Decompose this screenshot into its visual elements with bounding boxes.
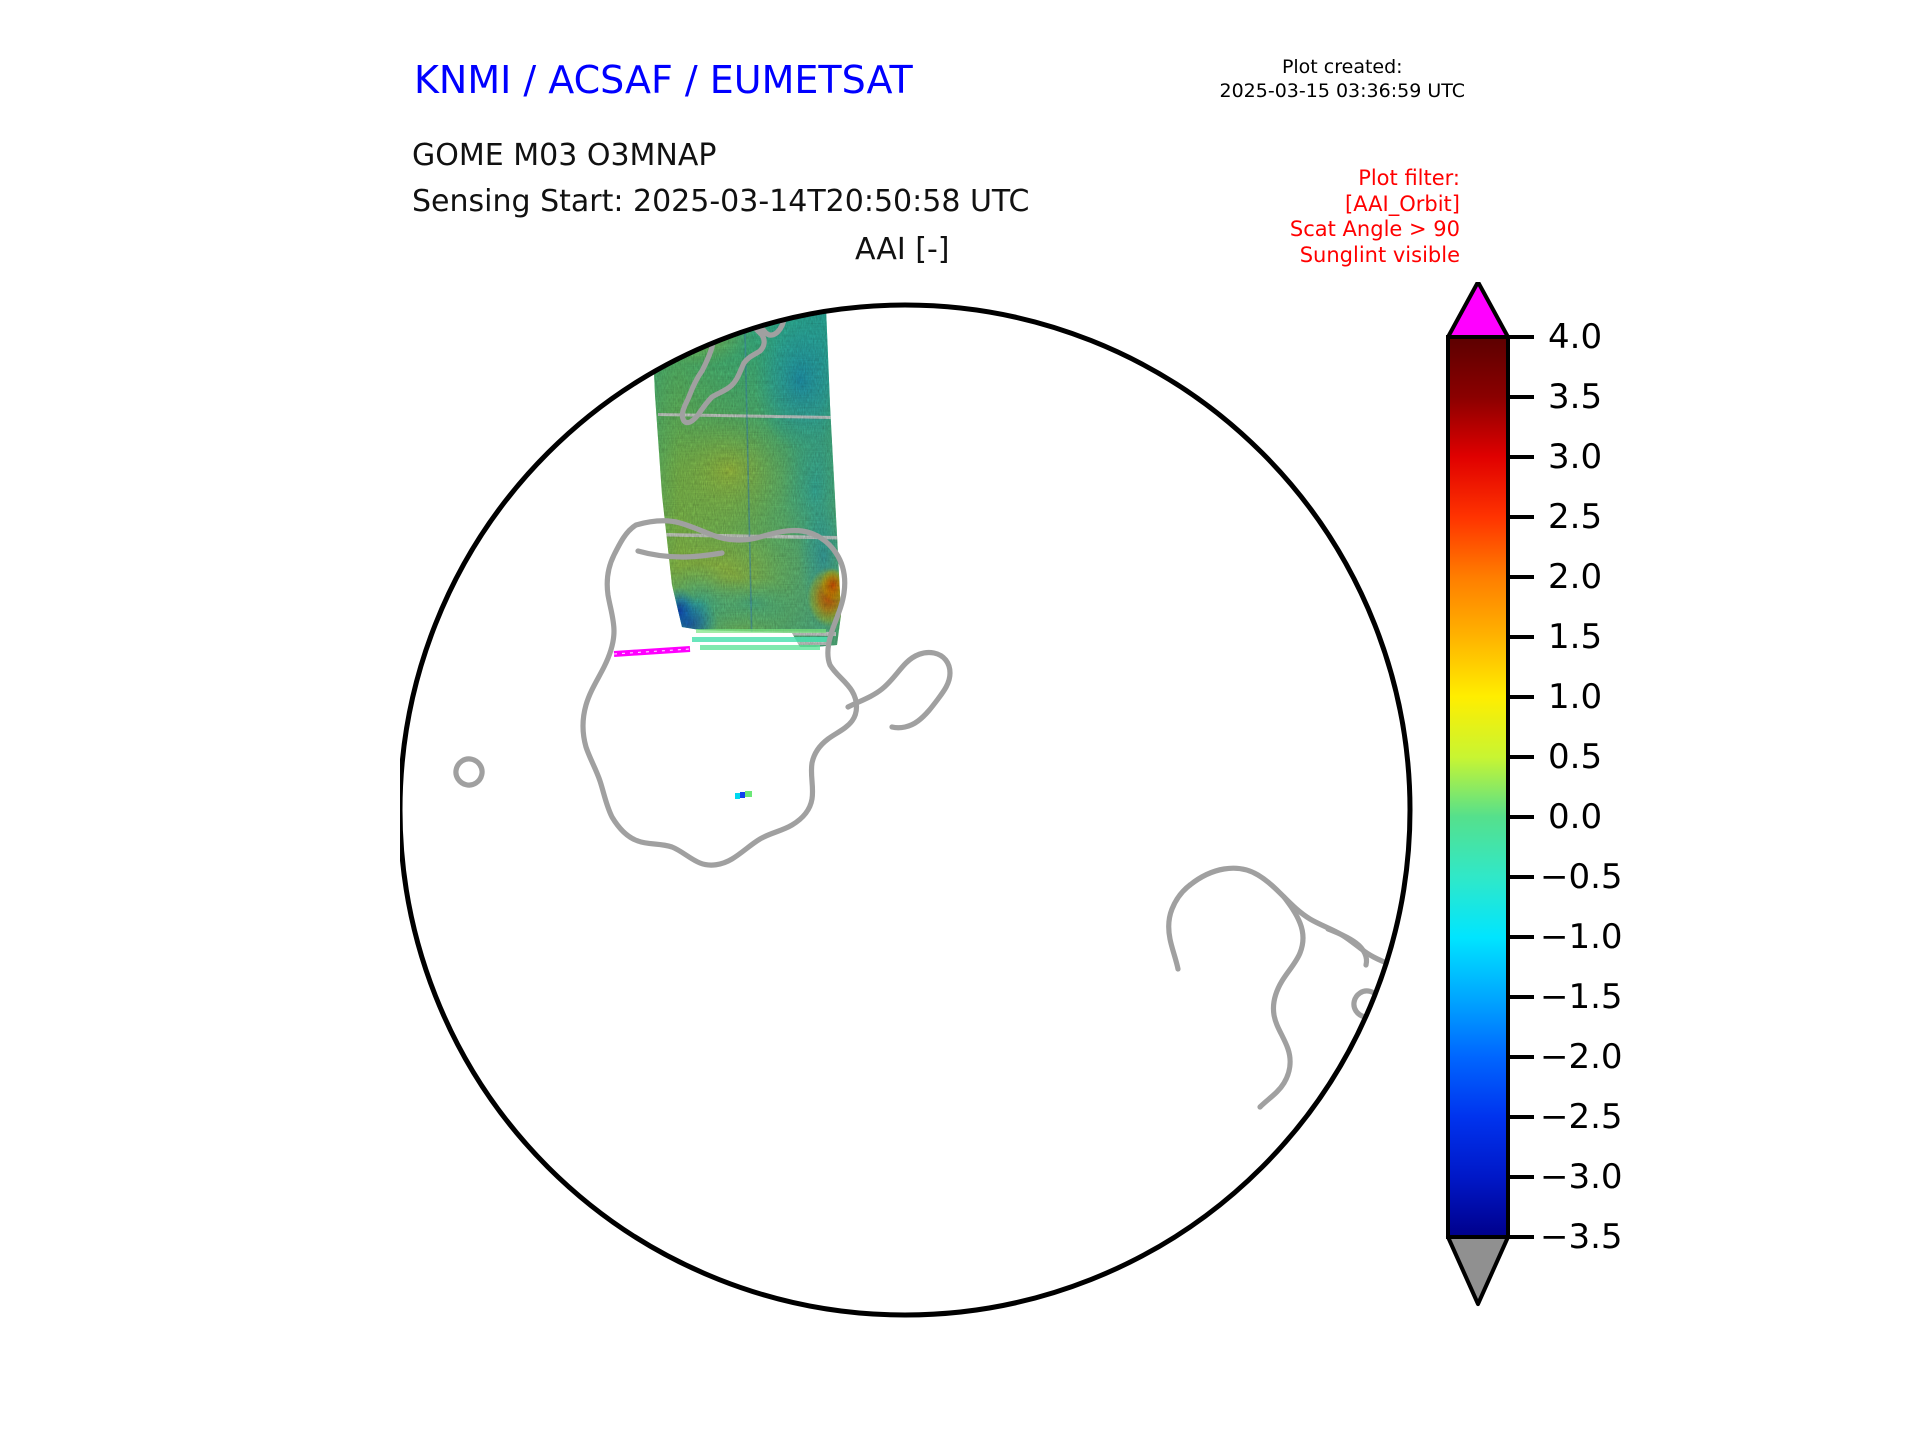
swath-trailing-rows: [692, 629, 830, 650]
cb-label-1: 3.5: [1548, 377, 1602, 417]
cb-label-4: 2.0: [1548, 557, 1602, 597]
plot-filter-block: Plot filter: [AAI_Orbit] Scat Angle > 90…: [1290, 166, 1460, 268]
small-island-west: [533, 345, 568, 371]
cb-label-3: 2.5: [1548, 497, 1602, 537]
cb-label-9: −0.5: [1540, 857, 1623, 897]
plot-created-label: Plot created:: [1220, 55, 1466, 79]
colorbar-over-arrow: [1448, 282, 1508, 337]
product-title: AAI [-]: [855, 232, 950, 267]
cb-label-0: 4.0: [1548, 317, 1602, 357]
cb-label-7: 0.5: [1548, 737, 1602, 777]
cb-label-8: 0.0: [1548, 797, 1602, 837]
cb-label-10: −1.0: [1540, 917, 1623, 957]
plot-filter-line-0: Plot filter:: [1290, 166, 1460, 192]
cb-label-14: −3.0: [1540, 1157, 1623, 1197]
plot-created-block: Plot created: 2025-03-15 03:36:59 UTC: [1220, 55, 1466, 103]
cb-label-2: 3.0: [1548, 437, 1602, 477]
plot-filter-line-1: [AAI_Orbit]: [1290, 192, 1460, 218]
organisation-title: KNMI / ACSAF / EUMETSAT: [414, 58, 913, 102]
cb-label-12: −2.0: [1540, 1037, 1623, 1077]
map-panel: [400, 285, 1420, 1325]
globe-disc: [400, 305, 1410, 1315]
colorbar-under-arrow: [1448, 1237, 1508, 1304]
cb-label-11: −1.5: [1540, 977, 1623, 1017]
cb-label-13: −2.5: [1540, 1097, 1623, 1137]
plot-created-value: 2025-03-15 03:36:59 UTC: [1220, 79, 1466, 103]
plot-canvas: KNMI / ACSAF / EUMETSAT Plot created: 20…: [0, 0, 1920, 1440]
cb-label-15: −3.5: [1540, 1217, 1623, 1257]
sensing-start-line: Sensing Start: 2025-03-14T20:50:58 UTC: [412, 184, 1029, 219]
colorbar-ticks: [1508, 337, 1534, 1237]
plot-filter-line-3: Sunglint visible: [1290, 243, 1460, 269]
cb-label-6: 1.0: [1548, 677, 1602, 717]
colorbar-tick-labels: 4.0 3.5 3.0 2.5 2.0 1.5 1.0 0.5 0.0 −0.5…: [1540, 317, 1623, 1257]
instrument-line: GOME M03 O3MNAP: [412, 138, 716, 173]
plot-filter-line-2: Scat Angle > 90: [1290, 217, 1460, 243]
colorbar: 4.0 3.5 3.0 2.5 2.0 1.5 1.0 0.5 0.0 −0.5…: [1430, 282, 1760, 1342]
cb-label-5: 1.5: [1548, 617, 1602, 657]
colorbar-gradient: [1448, 337, 1508, 1237]
